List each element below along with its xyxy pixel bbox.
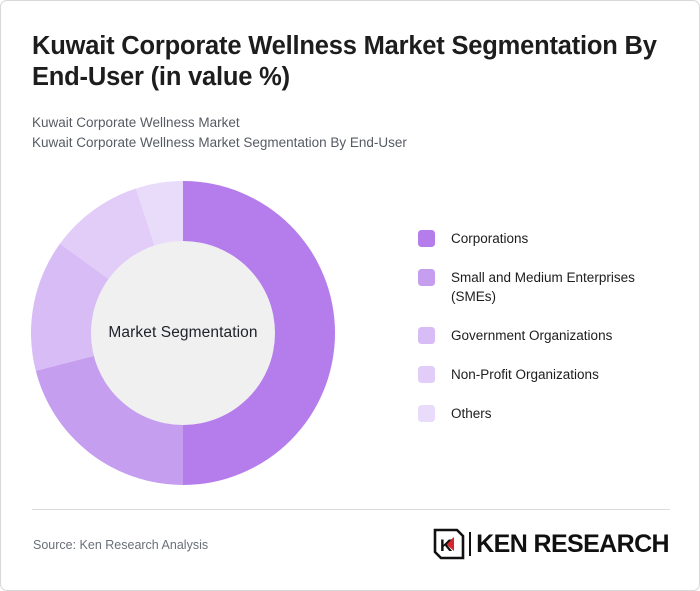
svg-text:K: K	[440, 536, 453, 555]
subtitle-block: Kuwait Corporate Wellness Market Kuwait …	[32, 113, 652, 153]
brand-name: KEN RESEARCH	[476, 530, 669, 559]
legend-label: Government Organizations	[451, 326, 612, 345]
legend-item[interactable]: Non-Profit Organizations	[418, 365, 678, 384]
legend-label: Non-Profit Organizations	[451, 365, 599, 384]
donut-chart: Market Segmentation	[31, 181, 335, 485]
legend-item[interactable]: Others	[418, 404, 678, 423]
donut-svg	[31, 181, 335, 485]
donut-hole	[91, 241, 275, 425]
subtitle-market: Kuwait Corporate Wellness Market	[32, 113, 652, 133]
legend-item[interactable]: Government Organizations	[418, 326, 678, 345]
legend-swatch	[418, 405, 435, 422]
legend-label: Small and Medium Enterprises (SMEs)	[451, 268, 669, 306]
chart-card: Kuwait Corporate Wellness Market Segment…	[0, 0, 700, 591]
legend-label: Others	[451, 404, 492, 423]
source-note: Source: Ken Research Analysis	[33, 538, 208, 552]
legend-item[interactable]: Small and Medium Enterprises (SMEs)	[418, 268, 678, 306]
footer-divider	[32, 509, 670, 510]
legend-swatch	[418, 230, 435, 247]
legend-label: Corporations	[451, 229, 528, 248]
subtitle-segmentation: Kuwait Corporate Wellness Market Segment…	[32, 133, 652, 153]
legend-item[interactable]: Corporations	[418, 229, 678, 248]
chart-area: Market Segmentation CorporationsSmall an…	[1, 161, 700, 501]
ken-research-hexagon-icon: K	[432, 526, 466, 562]
page-title: Kuwait Corporate Wellness Market Segment…	[32, 31, 662, 93]
legend-swatch	[418, 327, 435, 344]
legend-swatch	[418, 366, 435, 383]
chart-legend: CorporationsSmall and Medium Enterprises…	[418, 229, 678, 423]
brand-logo: K KEN RESEARCH	[432, 525, 669, 563]
legend-swatch	[418, 269, 435, 286]
brand-divider	[469, 532, 471, 556]
